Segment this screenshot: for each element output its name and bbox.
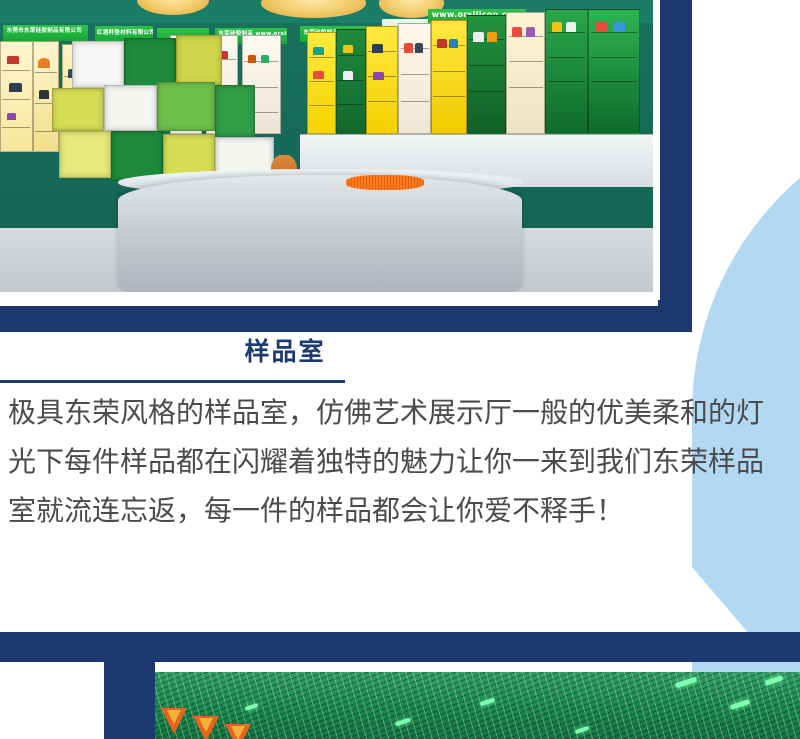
bunting-flag: [193, 716, 219, 739]
ceiling-light-glint: [480, 698, 496, 706]
ceiling-light-glint: [730, 699, 751, 710]
wall-sign-text: 红酒杯垫材料有限公司: [97, 28, 153, 36]
display-shelf: [467, 15, 506, 135]
display-shelf: [431, 20, 467, 134]
section-body-text: 极具东荣风格的样品室，仿佛艺术展示厅一般的优美柔和的灯光下每件样品都在闪耀着独特…: [8, 388, 788, 535]
navy-vertical-bar: [658, 0, 692, 332]
lower-photo-frame: [155, 672, 800, 739]
display-shelf: [336, 29, 365, 134]
display-shelf: [307, 32, 336, 134]
showroom-photo: 东莞市东荣硅胶制品有限公司 红酒杯垫材料有限公司 东荣硅胶制品 www.orsi…: [0, 0, 653, 292]
wall-sign-text: 东莞市东荣硅胶制品有限公司: [7, 26, 82, 34]
ceiling-light-glint: [575, 726, 590, 734]
display-cube: [215, 85, 254, 138]
display-cube: [104, 85, 156, 132]
display-shelf: [398, 23, 431, 134]
bunting-flag: [161, 708, 187, 734]
bunting-flag: [225, 724, 251, 739]
display-shelf: [0, 41, 33, 152]
display-cube: [59, 131, 111, 178]
display-shelf: [545, 9, 587, 135]
display-shelf: [588, 9, 640, 135]
display-cube: [72, 41, 124, 88]
ceiling-light-glint: [765, 675, 784, 685]
ceiling-light-glint: [675, 677, 697, 689]
display-cube: [176, 35, 222, 85]
display-cube: [52, 88, 104, 132]
title-underline-rule: [0, 380, 345, 383]
display-cube: [157, 82, 216, 132]
green-mesh-photo: [155, 672, 800, 739]
page-title: 样品室: [0, 336, 570, 369]
ceiling-light-glint: [395, 718, 411, 727]
navy-frame-lower-photo: [104, 632, 155, 739]
curved-counter: [118, 175, 523, 292]
wall-sign: 东莞市东荣硅胶制品有限公司: [3, 25, 88, 41]
page-root: 东莞市东荣硅胶制品有限公司 红酒杯垫材料有限公司 东荣硅胶制品 www.orsi…: [0, 0, 800, 739]
orange-silicone-mat: [346, 175, 424, 190]
display-shelf: [366, 26, 399, 134]
display-shelf: [506, 12, 545, 135]
navy-band-below-hero: [0, 306, 692, 332]
ceiling-light-glint: [245, 703, 259, 711]
hero-photo-frame: 东莞市东荣硅胶制品有限公司 红酒杯垫材料有限公司 东荣硅胶制品 www.orsi…: [0, 0, 660, 300]
